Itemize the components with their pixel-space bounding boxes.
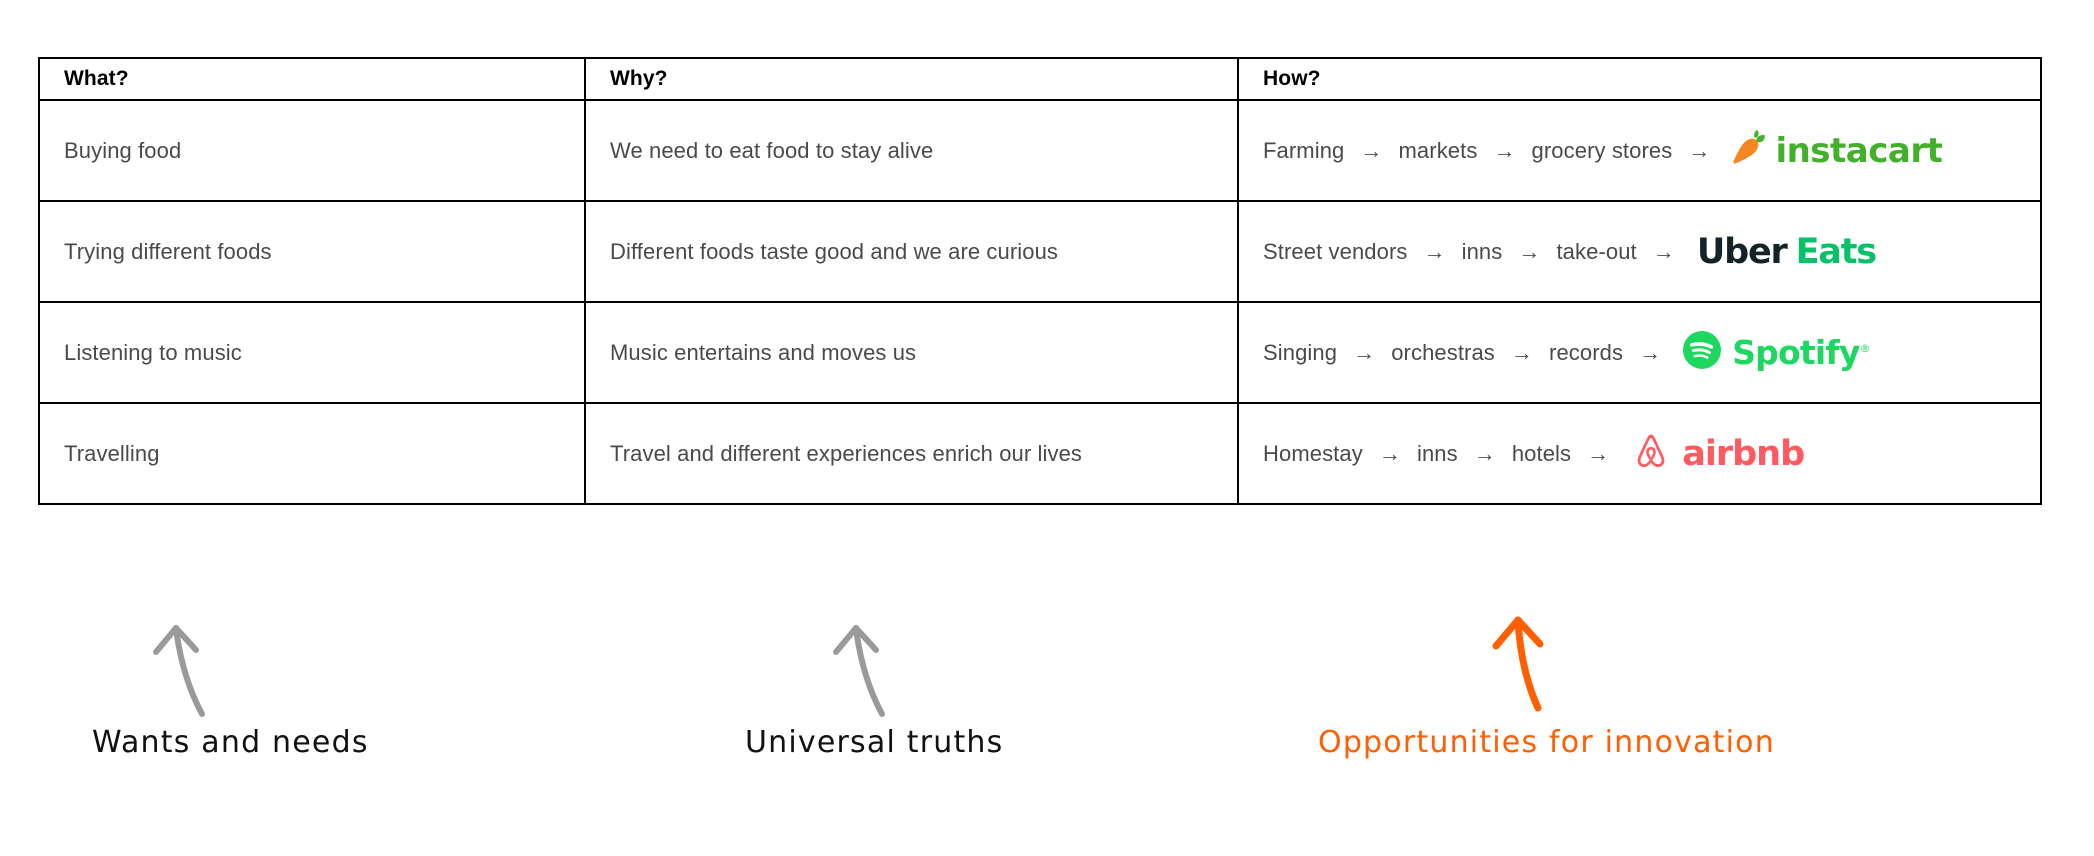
chain-step: markets (1399, 138, 1478, 164)
chain-step: orchestras (1391, 340, 1495, 366)
annotation-arrow-opportunities-for-innovation (1480, 590, 1570, 720)
annotation-arrow-wants-and-needs (140, 592, 230, 722)
chain-step: take-out (1556, 239, 1636, 265)
uber-wordmark: Uber (1697, 232, 1787, 272)
arrow-right-icon: → (1477, 140, 1531, 162)
cell-why: We need to eat food to stay alive (585, 100, 1238, 201)
evolution-chain: Farming → markets → grocery stores → (1263, 130, 2016, 172)
eats-wordmark: Eats (1796, 232, 1876, 272)
framework-table: What? Why? How? Buying food We need to e… (38, 57, 2042, 505)
arrow-right-icon: → (1458, 443, 1512, 465)
cell-why: Travel and different experiences enrich … (585, 403, 1238, 504)
registered-mark: ® (1860, 342, 1870, 355)
chain-step: inns (1417, 441, 1458, 467)
arrow-right-icon: → (1407, 241, 1461, 263)
cell-how: Singing → orchestras → records → (1238, 302, 2041, 403)
ubereats-logo: Uber Eats (1697, 232, 1876, 272)
airbnb-logo: airbnb (1631, 431, 1804, 477)
cell-what: Trying different foods (39, 201, 585, 302)
annotation-label-opportunities-for-innovation: Opportunities for innovation (1318, 725, 1775, 760)
cell-what: Listening to music (39, 302, 585, 403)
arrow-right-icon: → (1337, 342, 1391, 364)
cell-what: Buying food (39, 100, 585, 201)
spotify-wordmark: Spotify® (1732, 333, 1870, 372)
annotation-label-universal-truths: Universal truths (745, 725, 1003, 760)
table-row: Buying food We need to eat food to stay … (39, 100, 2041, 201)
arrow-right-icon: → (1623, 342, 1677, 364)
arrow-right-icon: → (1502, 241, 1556, 263)
spotify-logo: Spotify® (1683, 331, 1870, 375)
instacart-logo: instacart (1732, 130, 1942, 172)
chain-step: hotels (1512, 441, 1571, 467)
chain-step: inns (1462, 239, 1503, 265)
column-header-why: Why? (585, 58, 1238, 100)
chain-step: Singing (1263, 340, 1337, 366)
cell-why: Music entertains and moves us (585, 302, 1238, 403)
table-row: Trying different foods Different foods t… (39, 201, 2041, 302)
chain-step: records (1549, 340, 1623, 366)
arrow-right-icon: → (1363, 443, 1417, 465)
column-header-what: What? (39, 58, 585, 100)
cell-why: Different foods taste good and we are cu… (585, 201, 1238, 302)
spotify-circle-icon (1683, 331, 1721, 375)
table-header-row: What? Why? How? (39, 58, 2041, 100)
instacart-wordmark: instacart (1775, 131, 1942, 171)
evolution-chain: Street vendors → inns → take-out → Uber … (1263, 232, 2016, 272)
chain-step: Homestay (1263, 441, 1363, 467)
annotation-arrow-universal-truths (820, 592, 910, 722)
cell-how: Homestay → inns → hotels → airbnb (1238, 403, 2041, 504)
chain-step: Street vendors (1263, 239, 1407, 265)
column-header-how: How? (1238, 58, 2041, 100)
cell-how: Street vendors → inns → take-out → Uber … (1238, 201, 2041, 302)
chain-step: grocery stores (1532, 138, 1673, 164)
arrow-right-icon: → (1495, 342, 1549, 364)
carrot-icon (1732, 130, 1766, 172)
evolution-chain: Homestay → inns → hotels → airbnb (1263, 431, 2016, 477)
airbnb-belo-icon (1631, 431, 1671, 477)
chain-step: Farming (1263, 138, 1344, 164)
arrow-right-icon: → (1672, 140, 1726, 162)
arrow-right-icon: → (1571, 443, 1625, 465)
cell-what: Travelling (39, 403, 585, 504)
table-row: Travelling Travel and different experien… (39, 403, 2041, 504)
annotation-label-wants-and-needs: Wants and needs (92, 725, 369, 760)
spotify-wordmark-text: Spotify (1732, 333, 1859, 372)
table-row: Listening to music Music entertains and … (39, 302, 2041, 403)
evolution-chain: Singing → orchestras → records → (1263, 331, 2016, 375)
airbnb-wordmark: airbnb (1682, 434, 1804, 474)
cell-how: Farming → markets → grocery stores → (1238, 100, 2041, 201)
arrow-right-icon: → (1637, 241, 1691, 263)
arrow-right-icon: → (1344, 140, 1398, 162)
